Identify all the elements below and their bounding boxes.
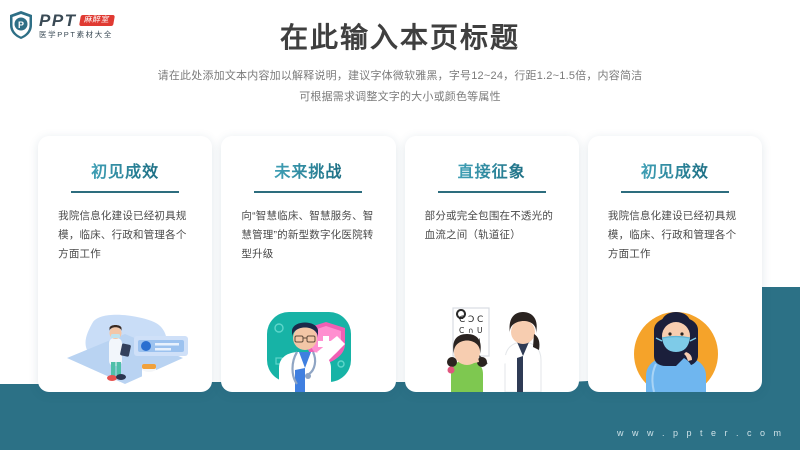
card-divider	[254, 191, 362, 193]
svg-text:C: C	[477, 315, 483, 325]
slide-canvas: P PPT 麻醉室 医学PPT素材大全 在此输入本页标题 请在此处添加文本内容加…	[0, 0, 800, 450]
content-card[interactable]: 未来挑战 向“智慧临床、智慧服务、智慧管理”的新型数字化医院转型升级	[221, 136, 395, 392]
card-title: 初见成效	[641, 158, 709, 182]
card-body-text: 我院信息化建设已经初具规模，临床、行政和管理各个方面工作	[58, 207, 192, 264]
doctor-with-tablet-and-monitor-icon	[38, 300, 212, 392]
watermark-text: w w w . p p t e r . c o m	[617, 428, 784, 438]
page-title: 在此输入本页标题	[0, 16, 800, 56]
eye-exam-chart-icon: C Ɔ C C ∩ U U C U o c u	[405, 300, 579, 392]
card-title: 初见成效	[91, 158, 159, 182]
content-card[interactable]: 初见成效 我院信息化建设已经初具规模，临床、行政和管理各个方面工作	[588, 136, 762, 392]
subtitle-line-1: 请在此处添加文本内容加以解释说明，建议字体微软雅黑，字号12~24，行距1.2~…	[0, 66, 800, 87]
doctor-holding-shield-icon	[221, 300, 395, 392]
svg-text:C: C	[459, 326, 464, 335]
card-row: 初见成效 我院信息化建设已经初具规模，临床、行政和管理各个方面工作	[38, 136, 762, 392]
card-body-text: 向“智慧临床、智慧服务、智慧管理”的新型数字化医院转型升级	[241, 207, 375, 264]
card-body-text: 部分或完全包围在不透光的血流之间（轨道征）	[425, 207, 559, 245]
content-card[interactable]: 初见成效 我院信息化建设已经初具规模，临床、行政和管理各个方面工作	[38, 136, 212, 392]
svg-text:C: C	[459, 315, 465, 325]
svg-text:Ɔ: Ɔ	[468, 315, 474, 325]
page-subtitle: 请在此处添加文本内容加以解释说明，建议字体微软雅黑，字号12~24，行距1.2~…	[0, 66, 800, 108]
card-divider	[621, 191, 729, 193]
card-divider	[438, 191, 546, 193]
subtitle-line-2: 可根据需求调整文字的大小或颜色等属性	[0, 87, 800, 108]
card-title: 直接征象	[458, 158, 526, 182]
svg-text:U: U	[477, 326, 483, 335]
card-body-text: 我院信息化建设已经初具规模，临床、行政和管理各个方面工作	[608, 207, 742, 264]
content-card[interactable]: 直接征象 部分或完全包围在不透光的血流之间（轨道征） C Ɔ C C ∩ U U…	[405, 136, 579, 392]
card-title: 未来挑战	[274, 158, 342, 182]
masked-woman-icon	[588, 300, 762, 392]
card-divider	[71, 191, 179, 193]
svg-text:∩: ∩	[468, 326, 474, 335]
